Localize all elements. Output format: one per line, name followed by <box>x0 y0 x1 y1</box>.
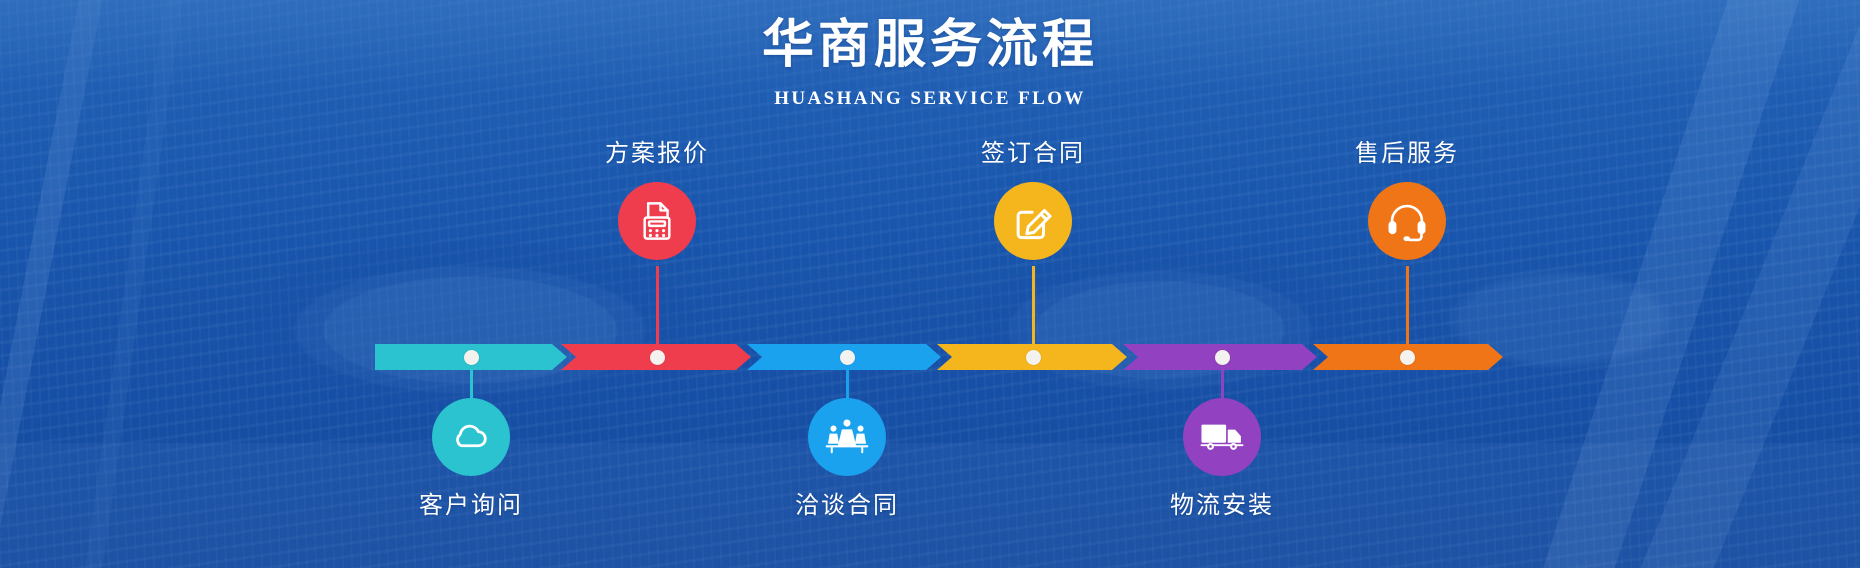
flow-step-4[interactable]: 签订合同 <box>923 142 1143 260</box>
flow-step-stem-1 <box>470 366 473 398</box>
flow-segment-dot-3 <box>840 350 855 365</box>
flow-step-icon-circle-2[interactable] <box>618 182 696 260</box>
flow-step-5[interactable]: 物流安装 <box>1112 366 1332 518</box>
cloud-chat-icon <box>450 416 492 458</box>
flow-step-icon-circle-3[interactable] <box>808 398 886 476</box>
flow-segment-dot-1 <box>464 350 479 365</box>
service-flow-banner: 华商服务流程 HUASHANG SERVICE FLOW 客户询问方案报价 <box>0 0 1860 568</box>
flow-segment-dot-4 <box>1026 350 1041 365</box>
delivery-truck-icon <box>1199 420 1245 454</box>
flow-step-label-4: 签订合同 <box>923 142 1143 166</box>
meeting-people-icon <box>825 417 869 457</box>
flow-step-label-3: 洽谈合同 <box>737 494 957 518</box>
flow-step-stem-2 <box>656 266 659 348</box>
flow-segment-dot-6 <box>1400 350 1415 365</box>
flow-step-icon-circle-6[interactable] <box>1368 182 1446 260</box>
flow-step-1[interactable]: 客户询问 <box>361 366 581 518</box>
page-subtitle: HUASHANG SERVICE FLOW <box>0 88 1860 110</box>
headset-support-icon <box>1385 199 1429 243</box>
flow-step-stem-4 <box>1032 266 1035 348</box>
flow-step-3[interactable]: 洽谈合同 <box>737 366 957 518</box>
pen-edit-icon <box>1012 200 1054 242</box>
flow-step-stem-3 <box>846 366 849 398</box>
flow-step-stem-6 <box>1406 266 1409 348</box>
flow-step-2[interactable]: 方案报价 <box>547 142 767 260</box>
invoice-calculator-icon <box>637 199 677 243</box>
flow-segment-dot-2 <box>650 350 665 365</box>
flow-step-label-1: 客户询问 <box>361 494 581 518</box>
flow-step-stem-5 <box>1221 366 1224 398</box>
flow-step-label-2: 方案报价 <box>547 142 767 166</box>
flow-step-label-5: 物流安装 <box>1112 494 1332 518</box>
page-title: 华商服务流程 <box>0 16 1860 74</box>
flow-step-icon-circle-1[interactable] <box>432 398 510 476</box>
flow-step-icon-circle-5[interactable] <box>1183 398 1261 476</box>
flow-step-label-6: 售后服务 <box>1297 142 1517 166</box>
flow-step-6[interactable]: 售后服务 <box>1297 142 1517 260</box>
flow-step-icon-circle-4[interactable] <box>994 182 1072 260</box>
flow-segment-dot-5 <box>1215 350 1230 365</box>
banner-header: 华商服务流程 HUASHANG SERVICE FLOW <box>0 16 1860 110</box>
